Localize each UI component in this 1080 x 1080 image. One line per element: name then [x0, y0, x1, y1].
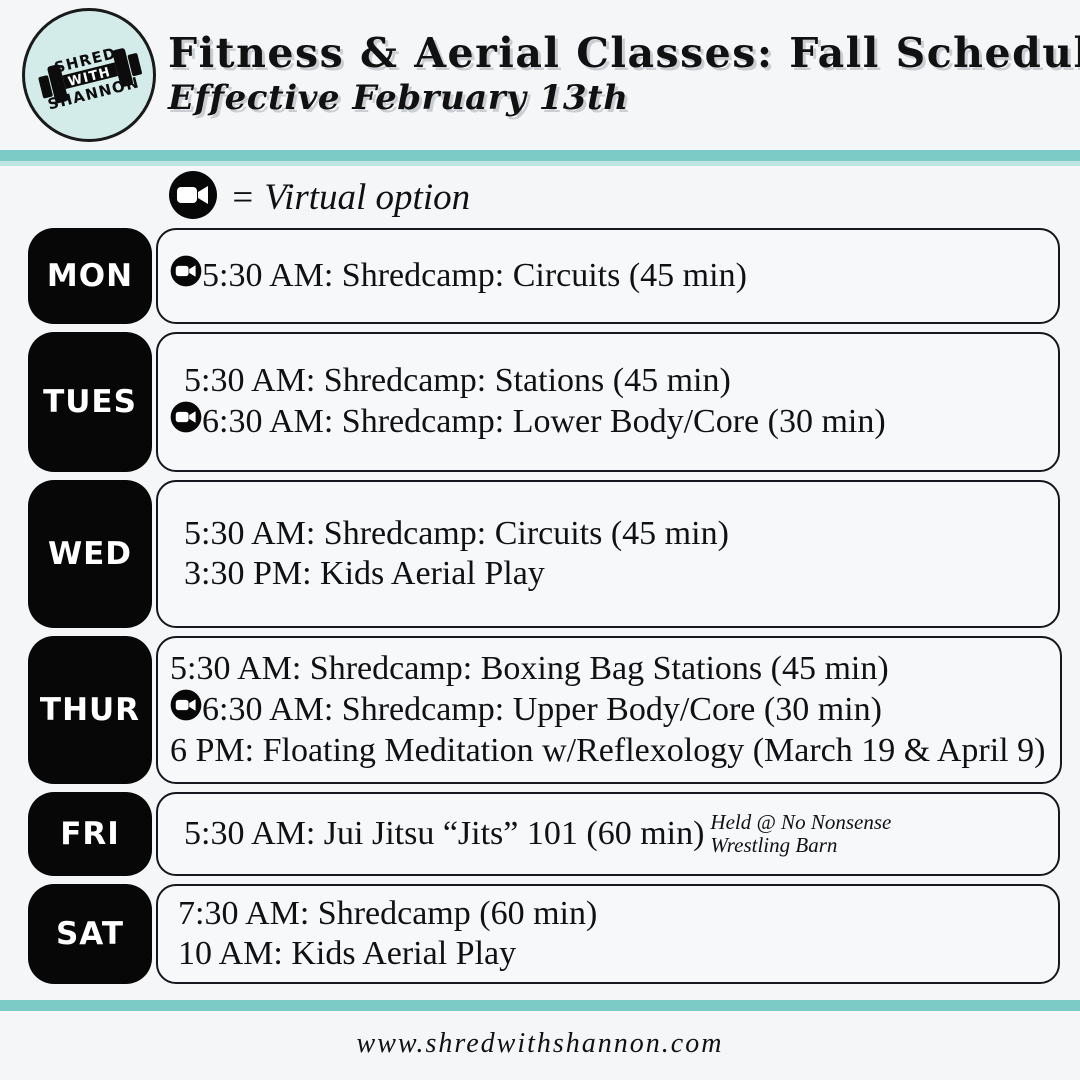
video-camera-icon [170, 401, 202, 443]
day-badge-sat: SAT [28, 884, 152, 984]
class-label: 6:30 AM: Shredcamp: Upper Body/Core (30 … [202, 690, 882, 730]
class-line: 5:30 AM: Shredcamp: Circuits (45 min) [170, 514, 1058, 554]
class-line: 6:30 AM: Shredcamp: Upper Body/Core (30 … [170, 689, 1060, 731]
schedule-row-mon: MON 5:30 AM: Shredcamp: Circuits (45 min… [28, 228, 1080, 324]
class-venue-note: Held @ No Nonsense Wrestling Barn [710, 811, 891, 856]
page-footer: www.shredwithshannon.com [0, 1011, 1080, 1077]
class-line: 6:30 AM: Shredcamp: Lower Body/Core (30 … [170, 401, 1058, 443]
schedule-row-sat: SAT 7:30 AM: Shredcamp (60 min) 10 AM: K… [28, 884, 1080, 984]
class-line: 5:30 AM: Shredcamp: Boxing Bag Stations … [170, 649, 1060, 689]
day-card-sat: 7:30 AM: Shredcamp (60 min) 10 AM: Kids … [156, 884, 1060, 984]
video-camera-icon [170, 689, 202, 731]
class-line: 3:30 PM: Kids Aerial Play [170, 554, 1058, 594]
schedule-row-tues: TUES 5:30 AM: Shredcamp: Stations (45 mi… [28, 332, 1080, 472]
video-camera-icon [168, 170, 218, 225]
day-badge-tues: TUES [28, 332, 152, 472]
bottom-spacer [0, 992, 1080, 1000]
legend: = Virtual option [0, 166, 1080, 228]
class-line: 5:30 AM: Shredcamp: Stations (45 min) [170, 361, 1058, 401]
day-card-tues: 5:30 AM: Shredcamp: Stations (45 min) 6:… [156, 332, 1060, 472]
day-badge-label: FRI [60, 816, 120, 852]
logo-dumbbell-icon: SHRED WITH SHANNON [25, 11, 153, 139]
class-line: 5:30 AM: Shredcamp: Circuits (45 min) [170, 255, 1058, 297]
class-label: 5:30 AM: Shredcamp: Boxing Bag Stations … [170, 649, 889, 689]
class-line: 7:30 AM: Shredcamp (60 min) [170, 894, 1058, 934]
day-badge-label: WED [48, 536, 132, 572]
class-line: 6 PM: Floating Meditation w/Reflexology … [170, 731, 1060, 771]
class-label: 6 PM: Floating Meditation w/Reflexology … [170, 731, 1045, 771]
page-subtitle: Effective February 13th [168, 79, 1080, 118]
page-title: Fitness & Aerial Classes: Fall Schedule [168, 32, 1080, 75]
day-badge-fri: FRI [28, 792, 152, 876]
schedule-row-fri: FRI 5:30 AM: Jui Jitsu “Jits” 101 (60 mi… [28, 792, 1080, 876]
day-badge-thur: THUR [28, 636, 152, 784]
class-line: 10 AM: Kids Aerial Play [170, 934, 1058, 974]
class-label: 7:30 AM: Shredcamp (60 min) [178, 894, 597, 934]
schedule-row-thur: THUR 5:30 AM: Shredcamp: Boxing Bag Stat… [28, 636, 1080, 784]
day-card-fri: 5:30 AM: Jui Jitsu “Jits” 101 (60 min) H… [156, 792, 1060, 876]
page-header: SHRED WITH SHANNON Fitness & Aerial Clas… [0, 0, 1080, 150]
class-label: 5:30 AM: Jui Jitsu “Jits” 101 (60 min) [184, 814, 704, 854]
class-label: 10 AM: Kids Aerial Play [178, 934, 516, 974]
website-url: www.shredwithshannon.com [357, 1028, 724, 1060]
class-label: 3:30 PM: Kids Aerial Play [184, 554, 545, 594]
day-badge-label: SAT [56, 916, 124, 952]
day-badge-label: THUR [40, 692, 140, 728]
day-badge-label: TUES [43, 384, 137, 420]
day-badge-label: MON [47, 258, 133, 294]
class-label: 5:30 AM: Shredcamp: Circuits (45 min) [184, 514, 729, 554]
day-card-wed: 5:30 AM: Shredcamp: Circuits (45 min) 3:… [156, 480, 1060, 628]
day-badge-wed: WED [28, 480, 152, 628]
day-badge-mon: MON [28, 228, 152, 324]
video-camera-icon [170, 255, 202, 297]
bottom-divider [0, 1000, 1080, 1011]
class-label: 6:30 AM: Shredcamp: Lower Body/Core (30 … [202, 402, 886, 442]
schedule-row-wed: WED 5:30 AM: Shredcamp: Circuits (45 min… [28, 480, 1080, 628]
class-line: 5:30 AM: Jui Jitsu “Jits” 101 (60 min) H… [170, 811, 1058, 856]
legend-label: = Virtual option [230, 176, 470, 219]
shred-with-shannon-logo: SHRED WITH SHANNON [22, 8, 156, 142]
schedule-list: MON 5:30 AM: Shredcamp: Circuits (45 min… [0, 228, 1080, 984]
top-divider [0, 150, 1080, 161]
header-title-block: Fitness & Aerial Classes: Fall Schedule … [168, 32, 1080, 118]
day-card-thur: 5:30 AM: Shredcamp: Boxing Bag Stations … [156, 636, 1062, 784]
class-label: 5:30 AM: Shredcamp: Stations (45 min) [184, 361, 731, 401]
class-label: 5:30 AM: Shredcamp: Circuits (45 min) [202, 256, 747, 296]
day-card-mon: 5:30 AM: Shredcamp: Circuits (45 min) [156, 228, 1060, 324]
